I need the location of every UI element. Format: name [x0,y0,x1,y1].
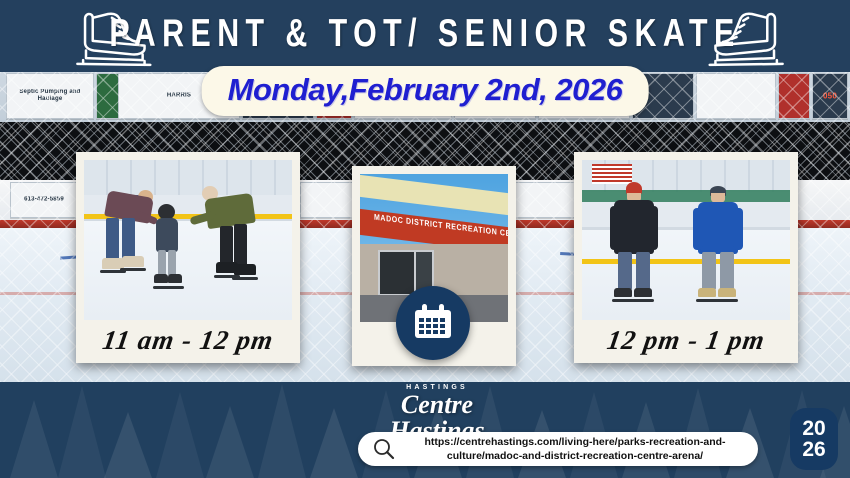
senior-skate-photo [582,160,790,320]
year-top: 20 [802,418,825,439]
search-icon [368,437,402,461]
senior-skate-photo-card: 12 pm - 1 pm [574,152,798,363]
calendar-icon [413,304,453,340]
event-date-text: Monday,February 2nd, 2026 [228,72,623,107]
calendar-badge [396,286,470,360]
parent-tot-photo-card: 11 am - 12 pm [76,152,300,363]
year-badge: 20 26 [790,408,838,470]
event-date-banner: Monday,February 2nd, 2026 [202,66,649,116]
website-url-bar[interactable]: https://centrehastings.com/living-here/p… [358,432,758,466]
scoreboard-value: 050 [813,91,847,100]
parent-tot-time-caption: 11 am - 12 pm [81,320,296,363]
ice-skate-icon [702,6,798,70]
page-title: PARENT & TOT/ SENIOR SKATE [34,11,816,56]
year-bottom: 26 [802,439,825,460]
website-url-text: https://centrehastings.com/living-here/p… [402,435,758,463]
board-ad-text: Septic Pumping and Haulage [7,89,93,103]
header-banner: PARENT & TOT/ SENIOR SKATE [0,0,850,72]
poster-canvas: Septic Pumping and Haulage HARRIS Bromle… [0,0,850,478]
parent-tot-photo [84,160,292,320]
board-ad-text: 613-472-5859 [11,197,77,204]
senior-skate-time-caption: 12 pm - 1 pm [579,320,794,363]
